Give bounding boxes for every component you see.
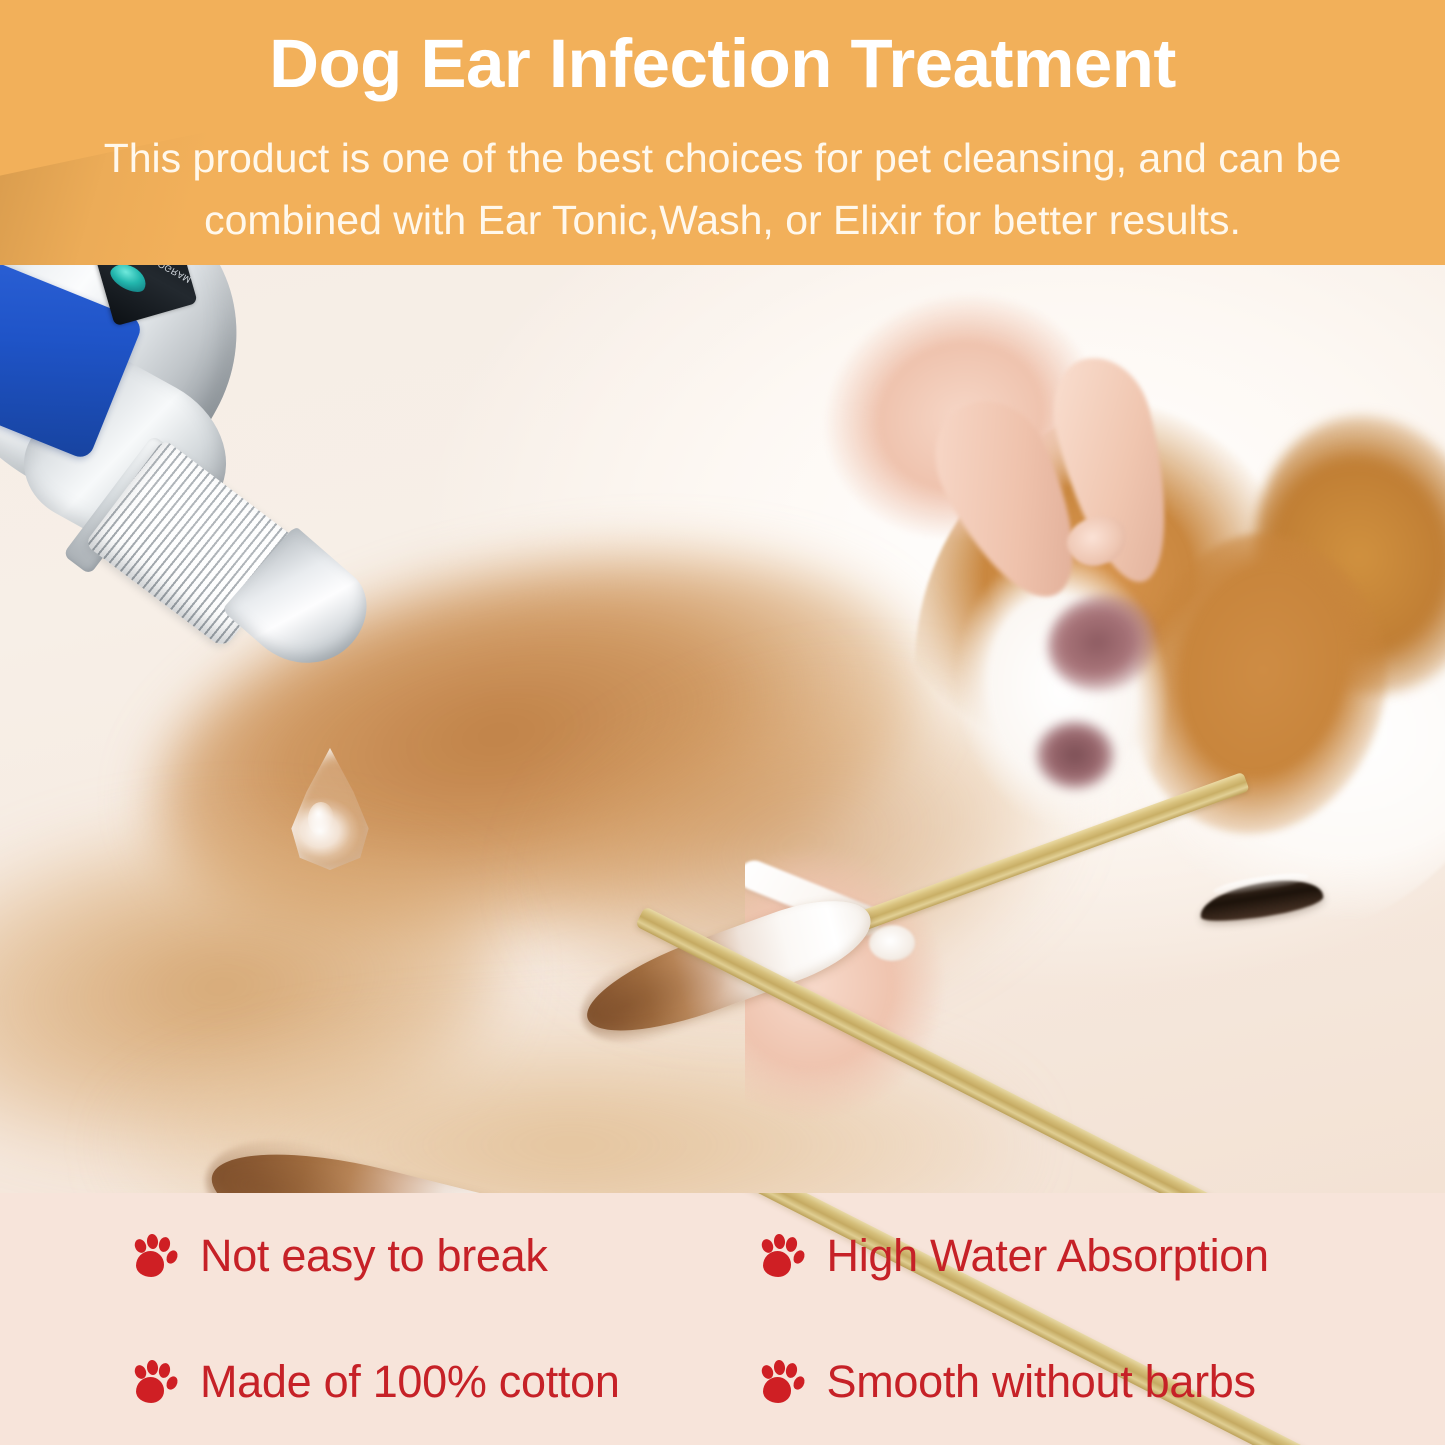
feature-label: High Water Absorption	[827, 1230, 1269, 1282]
paw-pad	[136, 1377, 164, 1403]
paw-icon	[132, 1233, 178, 1279]
feature-label: Smooth without barbs	[827, 1356, 1256, 1408]
feature-label: Made of 100% cotton	[200, 1356, 620, 1408]
features-panel: Not easy to break High Water Absorption	[0, 1193, 1445, 1445]
paw-pad	[763, 1251, 791, 1277]
header-banner: Dog Ear Infection Treatment This product…	[0, 0, 1445, 265]
paw-icon	[759, 1233, 805, 1279]
dog-and-hands-scene	[745, 265, 1445, 1193]
paw-icon	[759, 1359, 805, 1405]
product-poster: Dog Ear Infection Treatment This product…	[0, 0, 1445, 1445]
feature-item-not-easy-to-break: Not easy to break	[0, 1230, 723, 1282]
liquid-droplet-highlight	[308, 802, 334, 836]
paw-toe	[773, 1359, 786, 1375]
product-photo: HOLOGRAM	[0, 265, 1445, 1193]
paw-toe	[146, 1233, 159, 1249]
feature-item-made-of-100-cotton: Made of 100% cotton	[0, 1356, 723, 1408]
cotton-swab-lower-earwax	[193, 1122, 413, 1193]
paw-toe	[784, 1236, 798, 1253]
paw-toe	[773, 1233, 786, 1249]
page-title: Dog Ear Infection Treatment	[0, 29, 1445, 98]
paw-toe	[146, 1359, 159, 1375]
paw-pad	[136, 1251, 164, 1277]
feature-item-smooth-without-barbs: Smooth without barbs	[723, 1356, 1445, 1408]
paw-toe	[784, 1362, 798, 1379]
banner-subtitle: This product is one of the best choices …	[60, 128, 1385, 251]
hologram-gem-icon	[106, 265, 150, 297]
feature-label: Not easy to break	[200, 1230, 548, 1282]
ear-cleaner-bottle: HOLOGRAM	[0, 265, 481, 797]
feature-item-high-water-absorption: High Water Absorption	[723, 1230, 1445, 1282]
features-grid: Not easy to break High Water Absorption	[0, 1193, 1445, 1445]
paw-icon	[132, 1359, 178, 1405]
paw-pad	[763, 1377, 791, 1403]
